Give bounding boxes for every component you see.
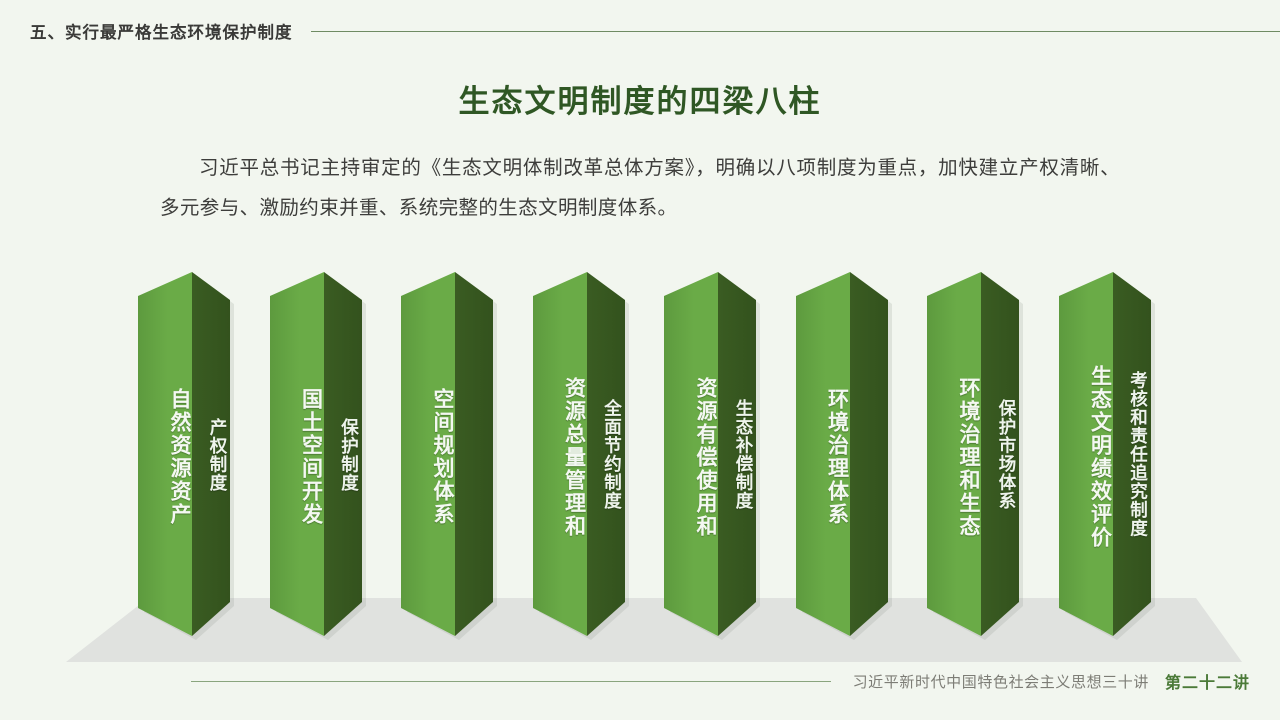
pillar-labels: 空间规划体系 [401, 262, 497, 642]
pillar-labels: 生态文明绩效评价考核和责任追究制度 [1059, 262, 1155, 642]
pillar-front-label: 国土空间开发 [278, 388, 322, 526]
pillar-front-label: 自然资源资产 [146, 388, 190, 526]
footer-divider-line [191, 681, 831, 682]
pillar-side-label: 生态补偿制度 [718, 399, 752, 510]
pillar-4[interactable]: 资源总量管理和全面节约制度 [533, 262, 629, 642]
pillar-side-label: 保护制度 [324, 418, 358, 492]
pillar-1[interactable]: 自然资源资产产权制度 [138, 262, 234, 642]
pillars-diagram: 自然资源资产产权制度国土空间开发保护制度空间规划体系资源总量管理和全面节约制度资… [0, 262, 1280, 662]
pillar-front-label: 空间规划体系 [409, 388, 453, 526]
pillar-front-label: 环境治理和生态 [935, 377, 979, 538]
slide-footer: 习近平新时代中国特色社会主义思想三十讲 第二十二讲 [0, 668, 1280, 694]
pillar-side-label: 考核和责任追究制度 [1113, 371, 1147, 538]
pillar-front-label: 资源总量管理和 [541, 377, 585, 538]
pillar-labels: 国土空间开发保护制度 [270, 262, 366, 642]
pillar-7[interactable]: 环境治理和生态保护市场体系 [927, 262, 1023, 642]
pillar-3[interactable]: 空间规划体系 [401, 262, 497, 642]
pillar-2[interactable]: 国土空间开发保护制度 [270, 262, 366, 642]
pillar-front-label: 环境治理体系 [804, 388, 848, 526]
pillar-labels: 资源有偿使用和生态补偿制度 [664, 262, 760, 642]
pillar-front-label: 资源有偿使用和 [672, 377, 716, 538]
pillar-labels: 资源总量管理和全面节约制度 [533, 262, 629, 642]
pillar-front-label: 生态文明绩效评价 [1067, 365, 1111, 549]
pillar-labels: 环境治理和生态保护市场体系 [927, 262, 1023, 642]
pillar-6[interactable]: 环境治理体系 [796, 262, 892, 642]
section-label: 五、实行最严格生态环境保护制度 [30, 19, 293, 43]
footer-lesson-label: 第二十二讲 [1165, 669, 1250, 693]
pillar-labels: 环境治理体系 [796, 262, 892, 642]
slide: 五、实行最严格生态环境保护制度 生态文明制度的四梁八柱 习近平总书记主持审定的《… [0, 0, 1280, 720]
pillar-side-label: 全面节约制度 [587, 399, 621, 510]
pillar-labels: 自然资源资产产权制度 [138, 262, 234, 642]
pillar-8[interactable]: 生态文明绩效评价考核和责任追究制度 [1059, 262, 1155, 642]
pillar-group: 自然资源资产产权制度国土空间开发保护制度空间规划体系资源总量管理和全面节约制度资… [0, 262, 1280, 662]
body-paragraph: 习近平总书记主持审定的《生态文明体制改革总体方案》，明确以八项制度为重点，加快建… [160, 148, 1120, 228]
page-title: 生态文明制度的四梁八柱 [0, 76, 1280, 121]
pillar-5[interactable]: 资源有偿使用和生态补偿制度 [664, 262, 760, 642]
slide-header: 五、实行最严格生态环境保护制度 [0, 14, 1280, 48]
pillar-side-label: 产权制度 [192, 418, 226, 492]
pillar-side-label: 保护市场体系 [981, 399, 1015, 510]
footer-series-label: 习近平新时代中国特色社会主义思想三十讲 [853, 671, 1149, 692]
header-divider-line [311, 31, 1280, 32]
